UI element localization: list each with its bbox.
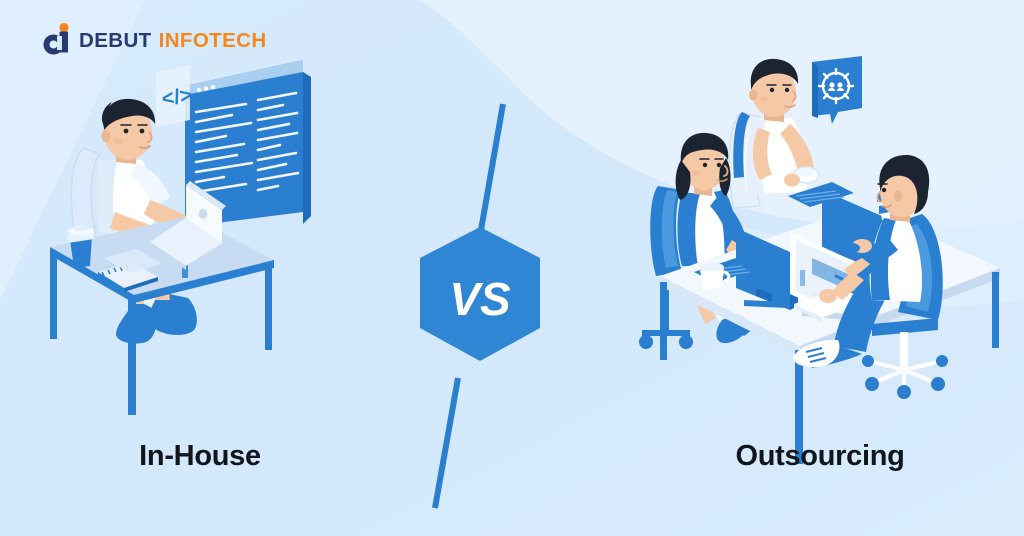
logo-dot	[59, 23, 68, 32]
standing-person	[729, 59, 819, 208]
caption-outsourcing: Outsourcing	[680, 440, 960, 473]
brand-name-primary: DEBUT	[79, 29, 152, 52]
brand-name-secondary: INFOTECH	[159, 29, 267, 52]
brand-wordmark: DEBUTINFOTECH	[79, 31, 267, 52]
speech-bubble-gear-team-icon	[812, 56, 862, 124]
svg-text:</>: </>	[160, 83, 194, 110]
divider-line-top	[481, 104, 503, 230]
debut-d-monogram-icon	[40, 22, 70, 60]
vs-label: VS	[408, 272, 552, 326]
right-scene-outsourcing	[639, 56, 1000, 464]
left-scene-in-house: </>	[50, 60, 311, 415]
office-chair	[71, 148, 100, 238]
code-tag-badge: </>	[156, 65, 194, 127]
caption-in-house: In-House	[60, 440, 340, 473]
brand-logo[interactable]: DEBUTINFOTECH	[40, 22, 267, 60]
illustration-canvas: </>	[0, 0, 1024, 536]
code-window: </>	[156, 60, 311, 227]
divider-line-bottom	[435, 378, 458, 508]
